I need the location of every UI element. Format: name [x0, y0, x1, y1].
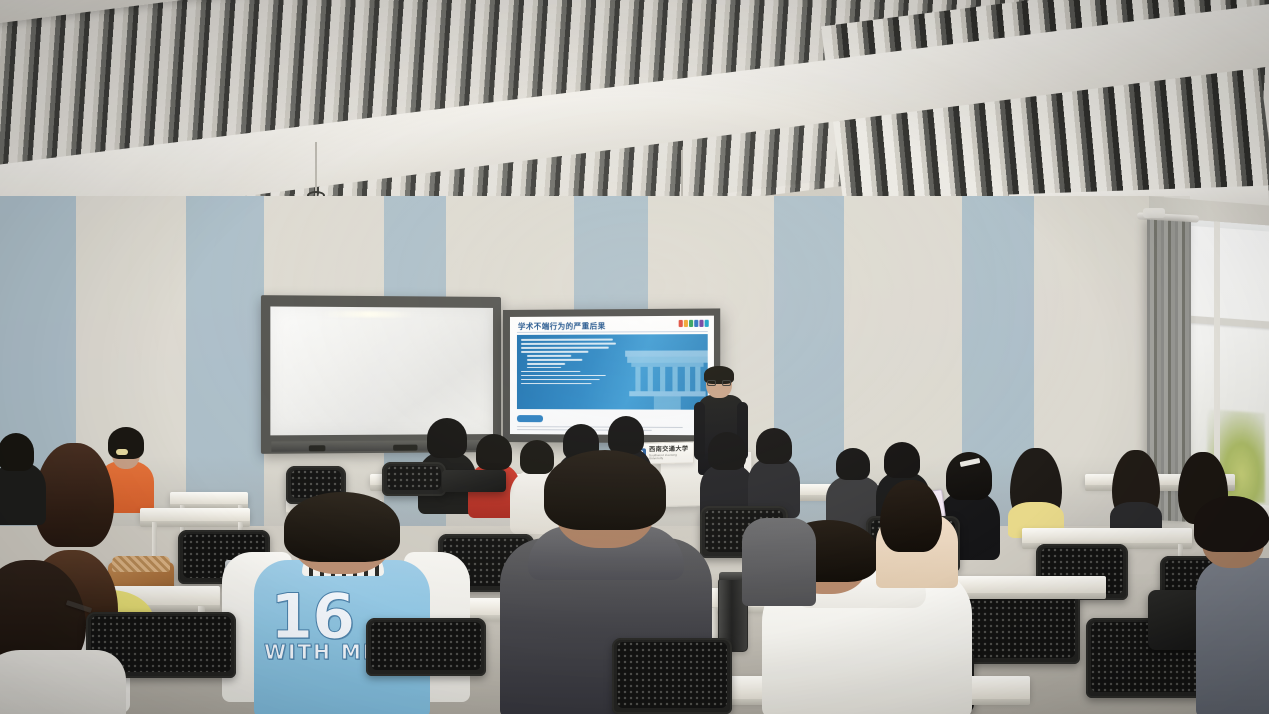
student-bottom-left-corner — [0, 640, 126, 714]
student-hair — [0, 433, 34, 471]
student-hair — [884, 442, 920, 478]
whiteboard-glare — [320, 311, 418, 318]
student-torso — [742, 518, 816, 606]
laptop-bag[interactable] — [442, 470, 506, 492]
hair-tie — [116, 449, 128, 455]
student-hair — [756, 428, 792, 464]
whiteboard-marker[interactable] — [309, 445, 326, 451]
student-torso — [0, 650, 126, 714]
student-back-right-e — [1008, 448, 1064, 534]
slide-footer-tag — [517, 415, 543, 422]
student-hair — [708, 432, 746, 470]
student-hair — [544, 450, 666, 530]
student-hair — [836, 448, 870, 480]
chair[interactable] — [960, 590, 1080, 664]
student-hair — [34, 443, 114, 547]
student-hair — [880, 480, 942, 552]
student-torso — [1196, 558, 1269, 714]
student-torso — [0, 463, 46, 525]
desk-leg — [152, 522, 157, 558]
student-hair — [608, 416, 644, 454]
student-right-grey-jacket — [1196, 500, 1269, 714]
student-graphic-tee — [742, 498, 816, 602]
chair[interactable] — [382, 462, 446, 496]
whiteboard-eraser[interactable] — [393, 445, 417, 451]
student-jersey-16: 16 WITH ME — [228, 514, 464, 714]
desk-row-far-left — [170, 492, 248, 505]
student-back-right-f — [1110, 450, 1162, 534]
chair[interactable] — [612, 638, 732, 714]
jersey-number: 16 — [270, 586, 354, 648]
slide-title: 学术不端行为的严重后果 — [518, 320, 606, 332]
presenter-glasses-icon — [707, 380, 731, 386]
hanging-speaker-icon — [315, 142, 317, 204]
slide-logo-icon — [679, 320, 709, 327]
student-left-edge — [0, 433, 46, 523]
chair[interactable] — [366, 618, 486, 676]
slide-text-lines — [521, 339, 617, 387]
curtain-mount — [1143, 208, 1165, 218]
whiteboard-surface[interactable] — [270, 306, 493, 435]
student-beige-top — [876, 488, 958, 584]
slide-body-panel — [517, 334, 708, 410]
jersey-text: WITH ME — [264, 642, 378, 662]
student-hair — [427, 418, 467, 458]
slide-title-rule — [517, 331, 708, 333]
student-hair — [284, 492, 400, 562]
student-hair — [1194, 496, 1269, 552]
classroom-photo: 学术不端行为的严重后果 — [0, 0, 1269, 714]
student-long-brown-hair — [34, 443, 114, 553]
desk-mid-right — [1022, 528, 1192, 544]
